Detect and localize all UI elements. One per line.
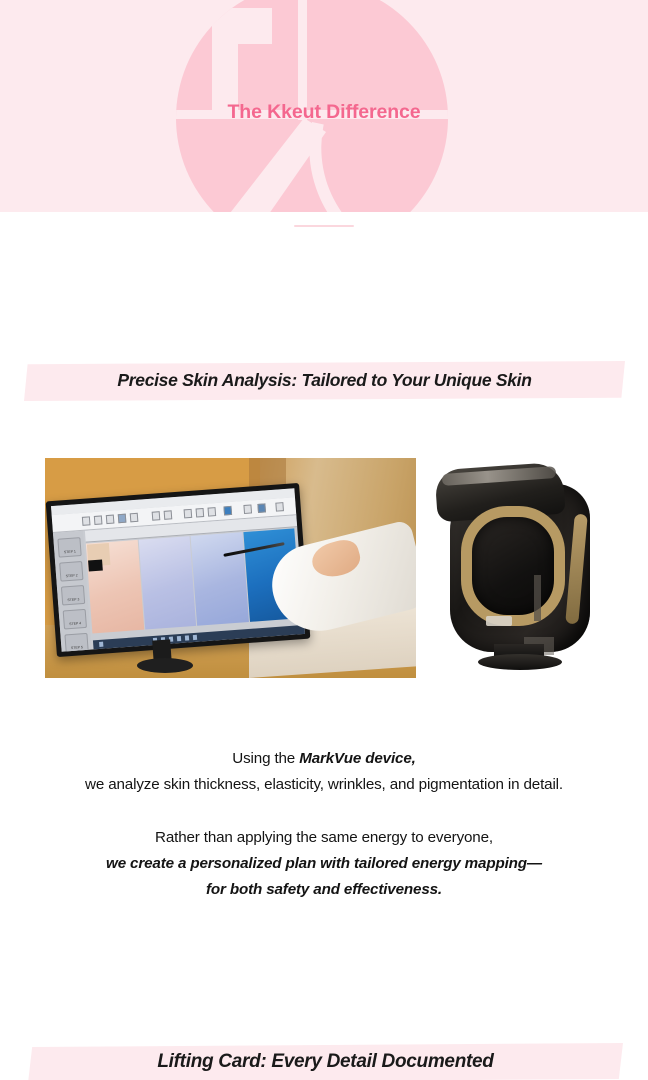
copy-line: we create a personalized plan with tailo… (0, 851, 648, 877)
toolbar-icon (243, 504, 252, 514)
toolbar-icon (184, 509, 193, 519)
page-title: The Kkeut Difference (0, 101, 648, 124)
scan-thumbnail[interactable] (191, 532, 249, 626)
copy-block-personalization: Rather than applying the same energy to … (0, 825, 648, 903)
toolbar-icon (208, 507, 217, 517)
photo-monitor-screen: STEP 1 STEP 2 STEP 3 STEP 4 STEP 5 (51, 488, 305, 651)
toolbar-icon (118, 514, 127, 524)
copy-line: Using the MarkVue device, (0, 746, 648, 772)
toolbar-icon (82, 516, 91, 526)
photo-monitor-base (137, 658, 193, 673)
copy-block-analysis: Using the MarkVue device, we analyze ski… (0, 746, 648, 798)
copy-line: for both safety and effectiveness. (0, 877, 648, 903)
toolbar-icon (275, 502, 284, 512)
banner-bottom-label: Lifting Card: Every Detail Documented (157, 1051, 493, 1073)
software-step-button[interactable]: STEP 4 (63, 609, 87, 630)
section-banner-lifting-card: Lifting Card: Every Detail Documented (28, 1043, 623, 1080)
toolbar-icon (196, 508, 205, 518)
toolbar-icon (152, 511, 161, 521)
software-step-button[interactable]: STEP 3 (61, 585, 85, 606)
toolbar-icon (223, 506, 232, 516)
markvue-device-photo (428, 458, 616, 678)
device-brand-badge (486, 616, 512, 626)
copy-line: we analyze skin thickness, elasticity, w… (0, 772, 648, 798)
section-banner-precise-skin-analysis: Precise Skin Analysis: Tailored to Your … (24, 361, 625, 401)
taskbar-icon (185, 635, 189, 640)
device-gold-ring (461, 506, 565, 626)
scan-crop-marker (88, 560, 103, 572)
toolbar-icon (257, 503, 266, 513)
page-root: The Kkeut Difference Precise Skin Analys… (0, 0, 648, 1080)
scan-thumbnail[interactable] (138, 536, 196, 630)
photo-monitor-bezel: STEP 1 STEP 2 STEP 3 STEP 4 STEP 5 (46, 483, 311, 657)
copy-line: Rather than applying the same energy to … (0, 825, 648, 851)
toolbar-icon (94, 515, 103, 525)
banner-top-label: Precise Skin Analysis: Tailored to Your … (117, 370, 531, 391)
taskbar-icon (99, 642, 103, 647)
software-step-button[interactable]: STEP 1 (57, 537, 81, 558)
software-step-button[interactable]: STEP 5 (64, 633, 88, 652)
toolbar-icon (106, 515, 115, 525)
hero-section: The Kkeut Difference (0, 0, 648, 212)
hero-divider (294, 225, 354, 227)
copy-line-prefix: Using the (232, 750, 299, 767)
toolbar-icon (130, 513, 139, 523)
device-base (478, 654, 562, 670)
device-inner-post (534, 575, 541, 621)
taskbar-icon (193, 635, 197, 640)
taskbar-icon (177, 636, 181, 641)
copy-line-emphasis: MarkVue device, (299, 750, 416, 767)
toolbar-icon (164, 510, 173, 520)
software-step-button[interactable]: STEP 2 (59, 561, 83, 582)
monitor-analysis-photo: STEP 1 STEP 2 STEP 3 STEP 4 STEP 5 (45, 458, 416, 678)
